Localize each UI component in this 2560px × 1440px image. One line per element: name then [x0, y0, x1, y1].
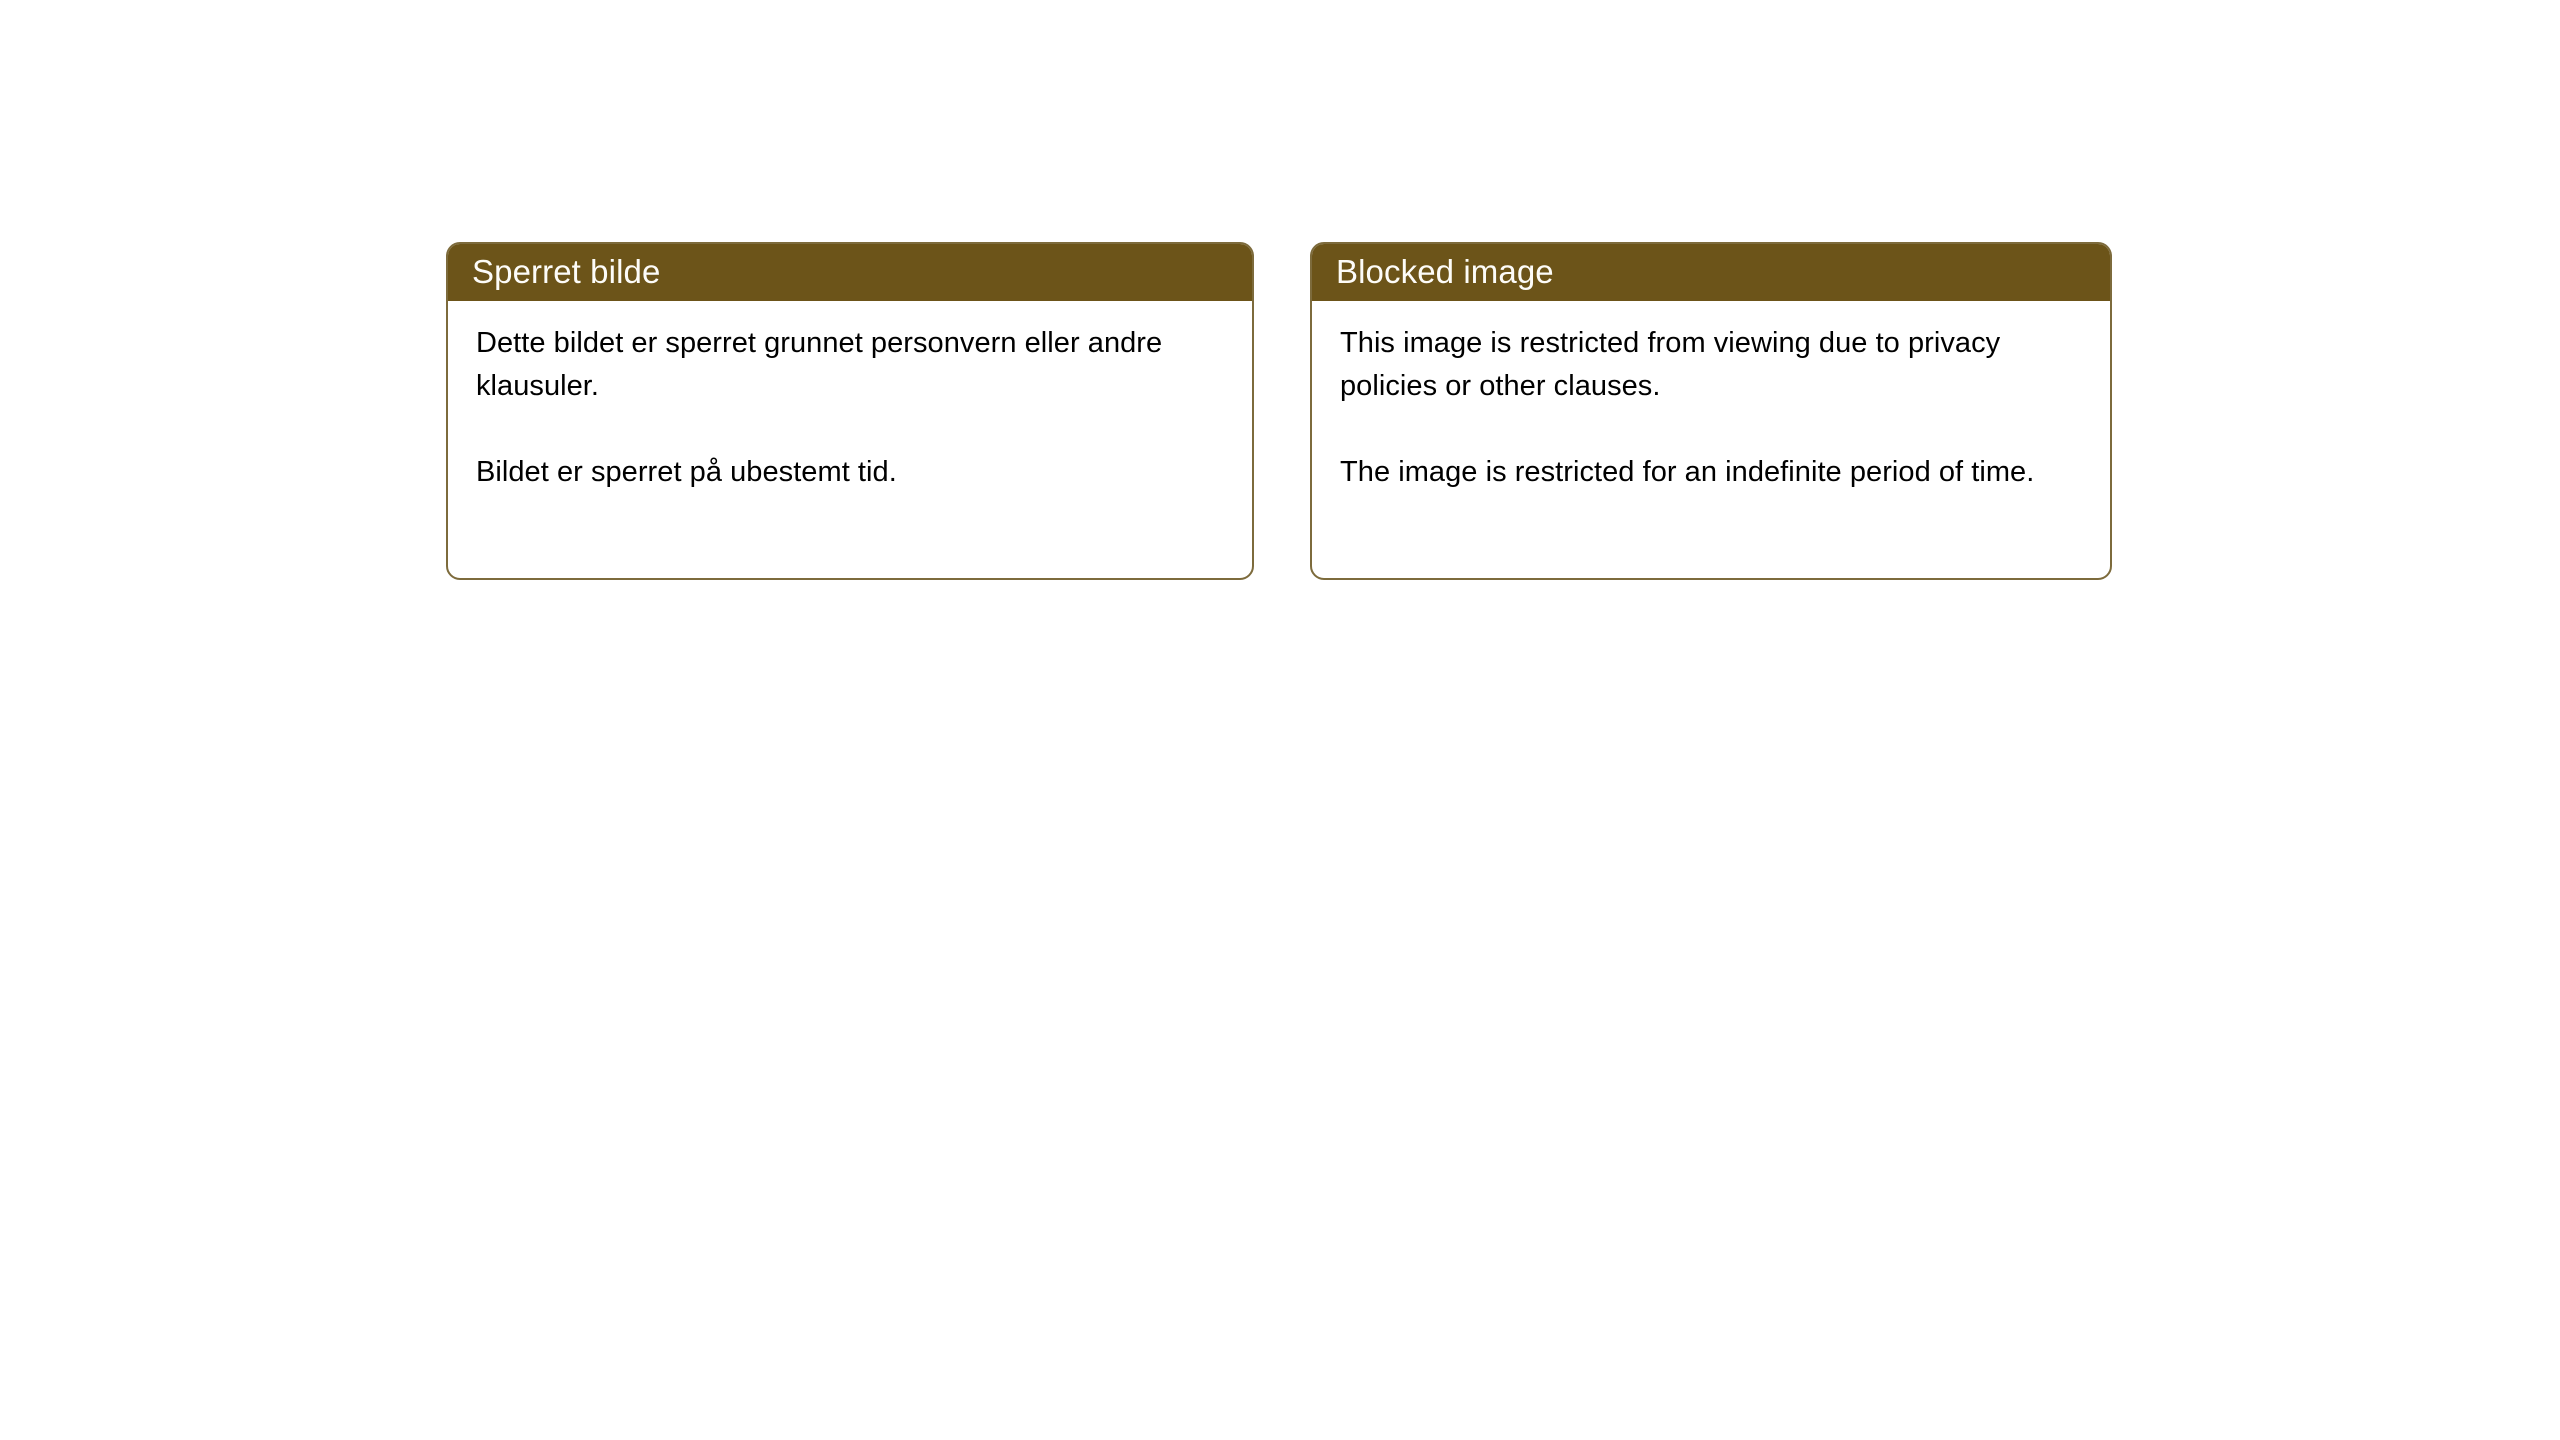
card-paragraph-reason-norwegian: Dette bildet er sperret grunnet personve…: [476, 322, 1176, 408]
card-header-norwegian: Sperret bilde: [448, 244, 1252, 301]
blocked-image-card-norwegian: Sperret bilde Dette bildet er sperret gr…: [446, 242, 1254, 580]
blocked-image-card-english: Blocked image This image is restricted f…: [1310, 242, 2112, 580]
card-paragraph-duration-norwegian: Bildet er sperret på ubestemt tid.: [476, 451, 1176, 494]
blocked-image-notice-area: Sperret bilde Dette bildet er sperret gr…: [0, 0, 2560, 1440]
card-title-norwegian: Sperret bilde: [472, 255, 660, 291]
card-paragraph-reason-english: This image is restricted from viewing du…: [1340, 322, 2040, 408]
card-paragraph-duration-english: The image is restricted for an indefinit…: [1340, 451, 2040, 494]
card-body-english: This image is restricted from viewing du…: [1312, 301, 2110, 494]
card-header-english: Blocked image: [1312, 244, 2110, 301]
card-title-english: Blocked image: [1336, 255, 1554, 291]
card-body-norwegian: Dette bildet er sperret grunnet personve…: [448, 301, 1252, 494]
